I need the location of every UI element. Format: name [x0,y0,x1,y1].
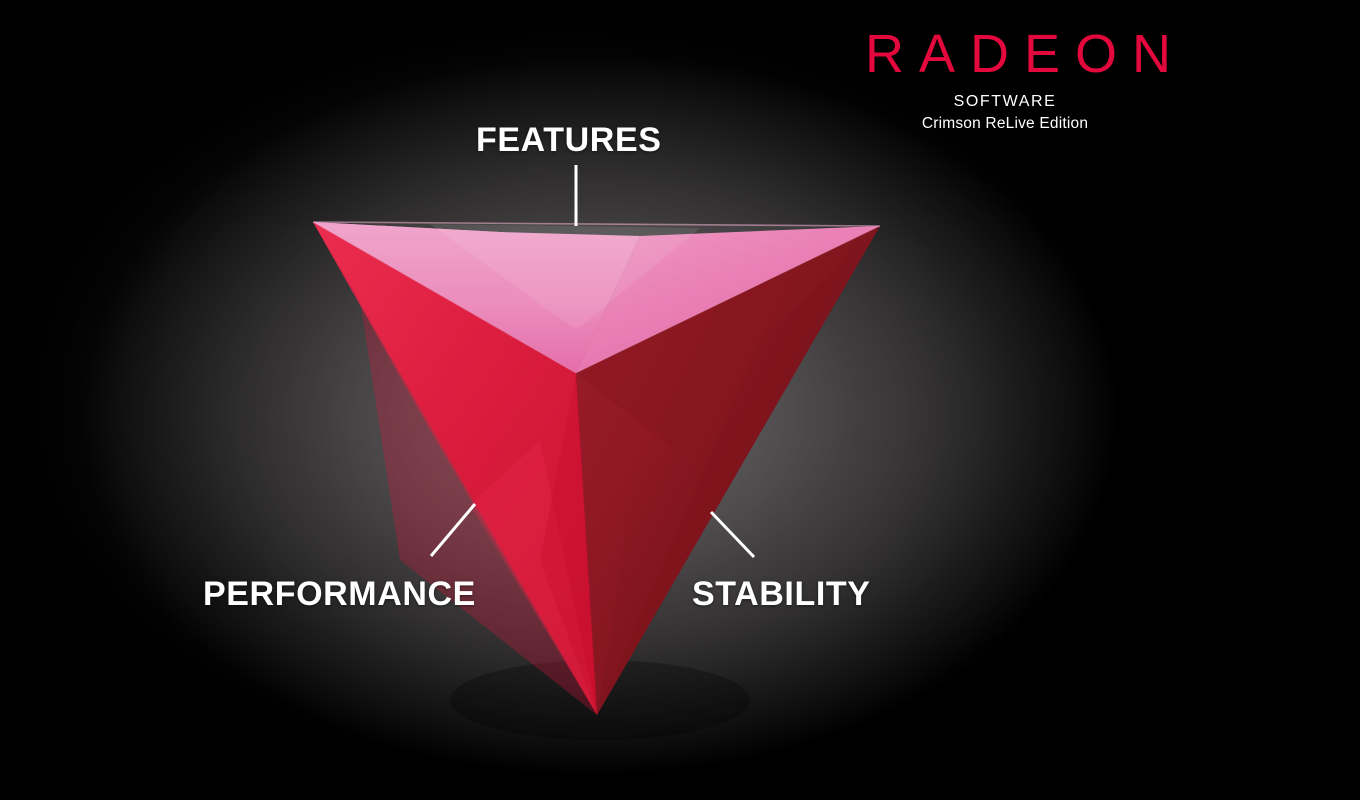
pillar-label-performance: PERFORMANCE [203,575,476,614]
poster-canvas: RADEON SOFTWARE Crimson ReLive Edition F… [0,0,1360,800]
leader-line-stability [711,512,754,557]
pillar-label-stability: STABILITY [692,575,871,614]
pillar-label-features: FEATURES [476,121,662,160]
radeon-prism-graphic [0,0,1360,800]
